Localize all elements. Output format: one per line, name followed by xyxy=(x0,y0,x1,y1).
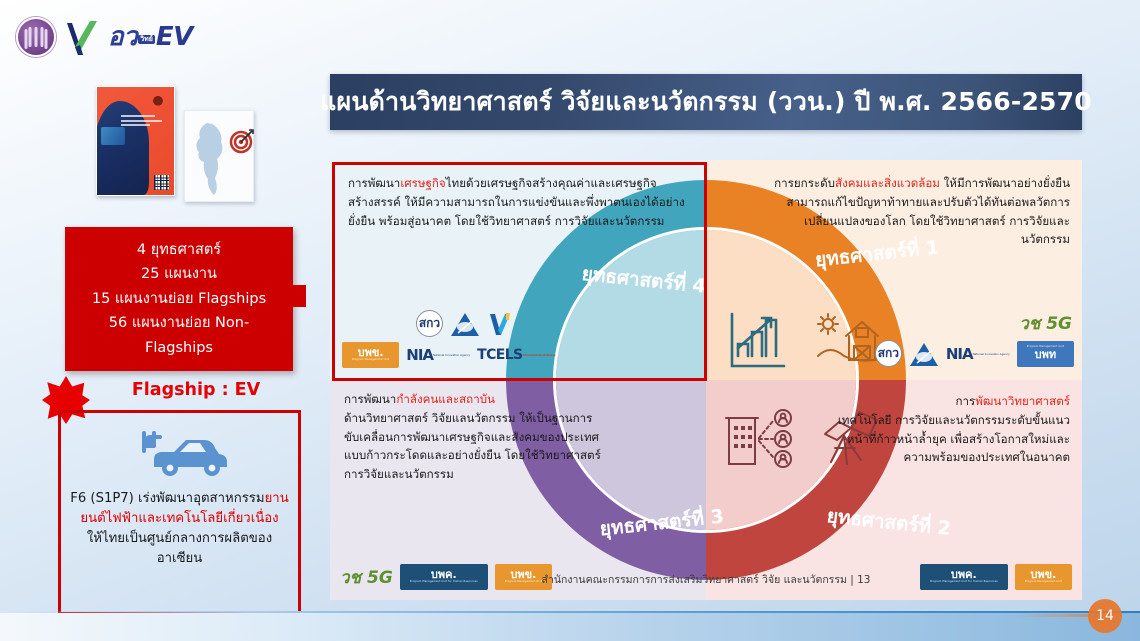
stats-line-3: 15 แผนงานย่อย Flagships xyxy=(92,287,266,311)
logo-bopoko-icon: บพข.Program Management Unit xyxy=(342,342,399,368)
strategy-3-body: เทคโนโลยี การวิจัยและนวัตกรรมระดับขั้นแน… xyxy=(838,413,1070,465)
ev-text-line1b: ยาน xyxy=(265,491,289,506)
qr-code-icon xyxy=(154,175,169,190)
slide-title-bar: แผนด้านวิทยาศาสตร์ วิจัยและนวัตกรรม (ววน… xyxy=(330,74,1082,130)
page-title: แผนด้านวิทยาศาสตร์ วิจัยและนวัตกรรม (ววน… xyxy=(320,82,1092,122)
logo-wijai-icon xyxy=(487,311,513,337)
strategy-1-logos-row1: สกว xyxy=(416,310,513,337)
page-number-rule xyxy=(1016,614,1088,617)
logo-suwoko-icon xyxy=(909,341,939,367)
emblem-icon xyxy=(151,96,165,112)
plan-cover-thumbnail xyxy=(96,86,175,196)
strategy-3-highlight: พัฒนาวิทยาศาสตร์ xyxy=(975,394,1070,408)
cover-title-lines xyxy=(121,115,169,129)
strategy-4-text: การพัฒนากำลังคนและสถาบันด้านวิทยาศาสตร์ … xyxy=(344,390,602,484)
strategy-3-lead: การ xyxy=(956,394,976,408)
quadrant-4-content: การพัฒนากำลังคนและสถาบันด้านวิทยาศาสตร์ … xyxy=(330,380,706,600)
stats-box-tab xyxy=(293,285,306,307)
ev-description: F6 (S1P7) เร่งพัฒนาอุตสาหกรรมยาน ยนต์ไฟฟ… xyxy=(61,485,298,569)
strategy-1-lead: การพัฒนา xyxy=(348,176,400,190)
ev-text-line2: ยนต์ไฟฟ้าและเทคโนโลยีเกี่ยวเนื่อง xyxy=(80,511,278,526)
quadrant-2-content: การยกระดับสังคมและสิ่งแวดล้อม ให้มีการพั… xyxy=(706,160,1082,380)
target-icon xyxy=(222,118,248,144)
stats-line-5: Flagships xyxy=(145,336,213,360)
logo-bopotho-icon: Program Management Unitบพท xyxy=(1017,341,1074,367)
v-check-icon xyxy=(65,17,99,57)
quadrant-1-content: การพัฒนาเศรษฐกิจไทยด้วยเศรษฐกิจสร้างคุณค… xyxy=(330,160,706,380)
strategy-2-logos-row2: สกว NIANational Innovation Agency Progra… xyxy=(875,340,1074,367)
brand-wordmark: อว วิทย์ EV xyxy=(108,16,193,57)
logo-nia-icon: NIANational Innovation Agency xyxy=(946,341,1010,367)
strategy-1-logos-row2: บพข.Program Management Unit NIANational … xyxy=(342,342,555,368)
strategy-2-highlight: สังคมและสิ่งแวดล้อม xyxy=(835,176,940,190)
logo-suwoko-icon xyxy=(450,311,480,337)
stats-line-1: 4 ยุทธศาสตร์ xyxy=(137,238,221,262)
ev-text-line1a: F6 (S1P7) เร่งพัฒนาอุตสาหกรรม xyxy=(70,491,264,506)
strategy-infographic-panel: ยุทธศาสตร์ที่ 1 ยุทธศาสตร์ที่ 2 ยุทธศาสต… xyxy=(330,160,1082,600)
logo-nia-icon: NIANational Innovation Agency xyxy=(406,342,470,368)
brand-ev-text: EV xyxy=(156,22,193,52)
strategy-2-text: การยกระดับสังคมและสิ่งแวดล้อม ให้มีการพั… xyxy=(770,174,1070,249)
flagship-ev-box: F6 (S1P7) เร่งพัฒนาอุตสาหกรรมยาน ยนต์ไฟฟ… xyxy=(58,410,301,615)
flagship-label: Flagship : EV xyxy=(98,380,294,400)
stats-line-2: 25 แผนงาน xyxy=(141,262,217,286)
ev-car-charging-icon xyxy=(120,421,240,485)
thailand-map-thumbnail xyxy=(184,110,254,202)
strategy-3-text: การพัฒนาวิทยาศาสตร์เทคโนโลยี การวิจัยและ… xyxy=(820,392,1070,467)
brand-thai-text: อว xyxy=(108,16,137,57)
strategy-4-body: ด้านวิทยาศาสตร์ วิจัยแลนวัตกรรม ให้เป็นฐ… xyxy=(344,411,601,481)
ev-text-line4: อาเซียน xyxy=(157,551,203,566)
strategy-4-highlight: กำลังคนและสถาบัน xyxy=(396,392,495,406)
strategy-1-highlight: เศรษฐกิจ xyxy=(400,176,445,190)
page-number-badge: 14 xyxy=(1088,599,1122,633)
brand-sub-text: วิทย์ xyxy=(138,35,155,44)
ev-text-line3: ให้ไทยเป็นศูนย์กลางการผลิตของ xyxy=(87,531,272,546)
panel-footer-caption: สำนักงานคณะกรรมการการส่งเสริมวิทยาศาสตร์… xyxy=(330,571,1082,588)
bottom-bar xyxy=(0,613,1140,641)
quadrant-3-content: การพัฒนาวิทยาศาสตร์เทคโนโลยี การวิจัยและ… xyxy=(706,380,1082,600)
logo-tcels-icon: TCELSThailand Center of Excellence for L… xyxy=(477,342,555,368)
ministry-seal-icon xyxy=(16,17,56,57)
strategy-2-lead: การยกระดับ xyxy=(774,176,835,190)
strategy-4-lead: การพัฒนา xyxy=(344,392,396,406)
logo-wch5g-icon: วช 5G xyxy=(1019,310,1072,336)
strategy-stats-box: 4 ยุทธศาสตร์ 25 แผนงาน 15 แผนงานย่อย Fla… xyxy=(65,227,293,371)
logo-sakawa-icon: สกว xyxy=(875,340,902,367)
strategy-1-text: การพัฒนาเศรษฐกิจไทยด้วยเศรษฐกิจสร้างคุณค… xyxy=(348,174,693,230)
logo-sakawa-icon: สกว xyxy=(416,310,443,337)
stats-line-4: 56 แผนงานย่อย Non- xyxy=(109,311,249,335)
strategy-2-logos-row1: วช 5G xyxy=(1019,310,1072,336)
header-logo: อว วิทย์ EV xyxy=(16,16,193,57)
